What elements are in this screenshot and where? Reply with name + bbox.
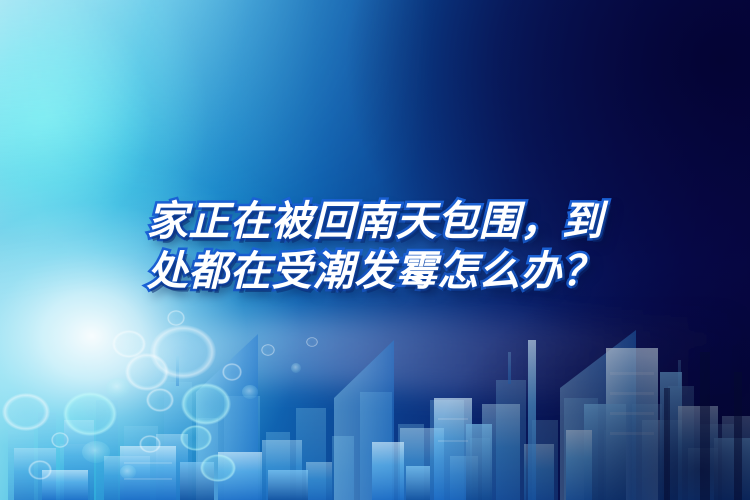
poster-canvas: 家正在被回南天包围，到 处都在受潮发霉怎么办？ xyxy=(0,0,750,500)
vignette-overlay xyxy=(0,0,750,500)
